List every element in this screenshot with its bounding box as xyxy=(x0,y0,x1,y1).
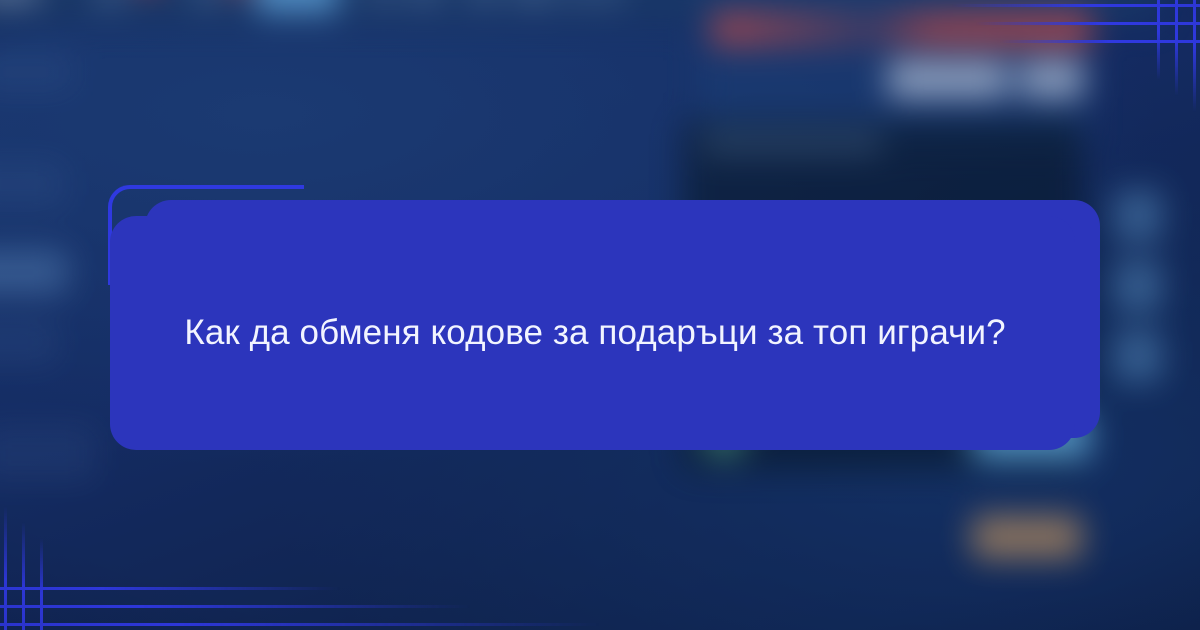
chat-chip-3 xyxy=(1114,330,1162,382)
bracket-line-h-1 xyxy=(952,4,1200,7)
bracket-line-h-3 xyxy=(0,587,340,590)
left-card xyxy=(0,426,96,482)
bracket-line-v-3 xyxy=(1157,0,1160,80)
nav-item-highlight-2 xyxy=(300,0,336,10)
site-logo xyxy=(0,0,42,2)
nav-item-highlight-1 xyxy=(258,0,296,10)
nav-item-8 xyxy=(512,0,556,6)
bracket-line-v-1 xyxy=(1193,0,1196,112)
nav-item-9 xyxy=(570,0,590,6)
left-avatar-row xyxy=(0,52,74,92)
nav-item-1 xyxy=(92,0,126,6)
bracket-line-h-2 xyxy=(0,605,470,608)
bracket-line-h-3 xyxy=(1000,40,1200,43)
bracket-line-v-2 xyxy=(22,522,25,630)
chat-chip-2 xyxy=(1114,260,1162,312)
left-menu-item-3 xyxy=(0,320,58,364)
bracket-line-h-1 xyxy=(0,623,600,626)
left-menu-item-2 xyxy=(0,250,68,294)
left-menu-item-1 xyxy=(0,160,66,208)
corner-bracket-top-right xyxy=(940,0,1200,118)
bracket-line-v-2 xyxy=(1175,0,1178,96)
claim-button xyxy=(972,515,1082,559)
bracket-line-h-2 xyxy=(976,22,1200,25)
nav-item-7 xyxy=(468,0,498,6)
bracket-line-v-3 xyxy=(40,538,43,630)
chat-panel-header xyxy=(702,132,882,154)
bracket-line-v-1 xyxy=(4,506,7,630)
chat-chip-1 xyxy=(1114,190,1162,242)
page-title: Как да обменя кодове за подаръци за топ … xyxy=(145,216,1045,450)
nav-item-10 xyxy=(600,0,620,6)
corner-bracket-bottom-left xyxy=(0,500,620,630)
nav-item-3 xyxy=(192,0,220,6)
og-image-canvas: Как да обменя кодове за подаръци за топ … xyxy=(0,0,1200,630)
nav-item-6 xyxy=(408,0,442,6)
nav-item-5 xyxy=(370,0,394,6)
